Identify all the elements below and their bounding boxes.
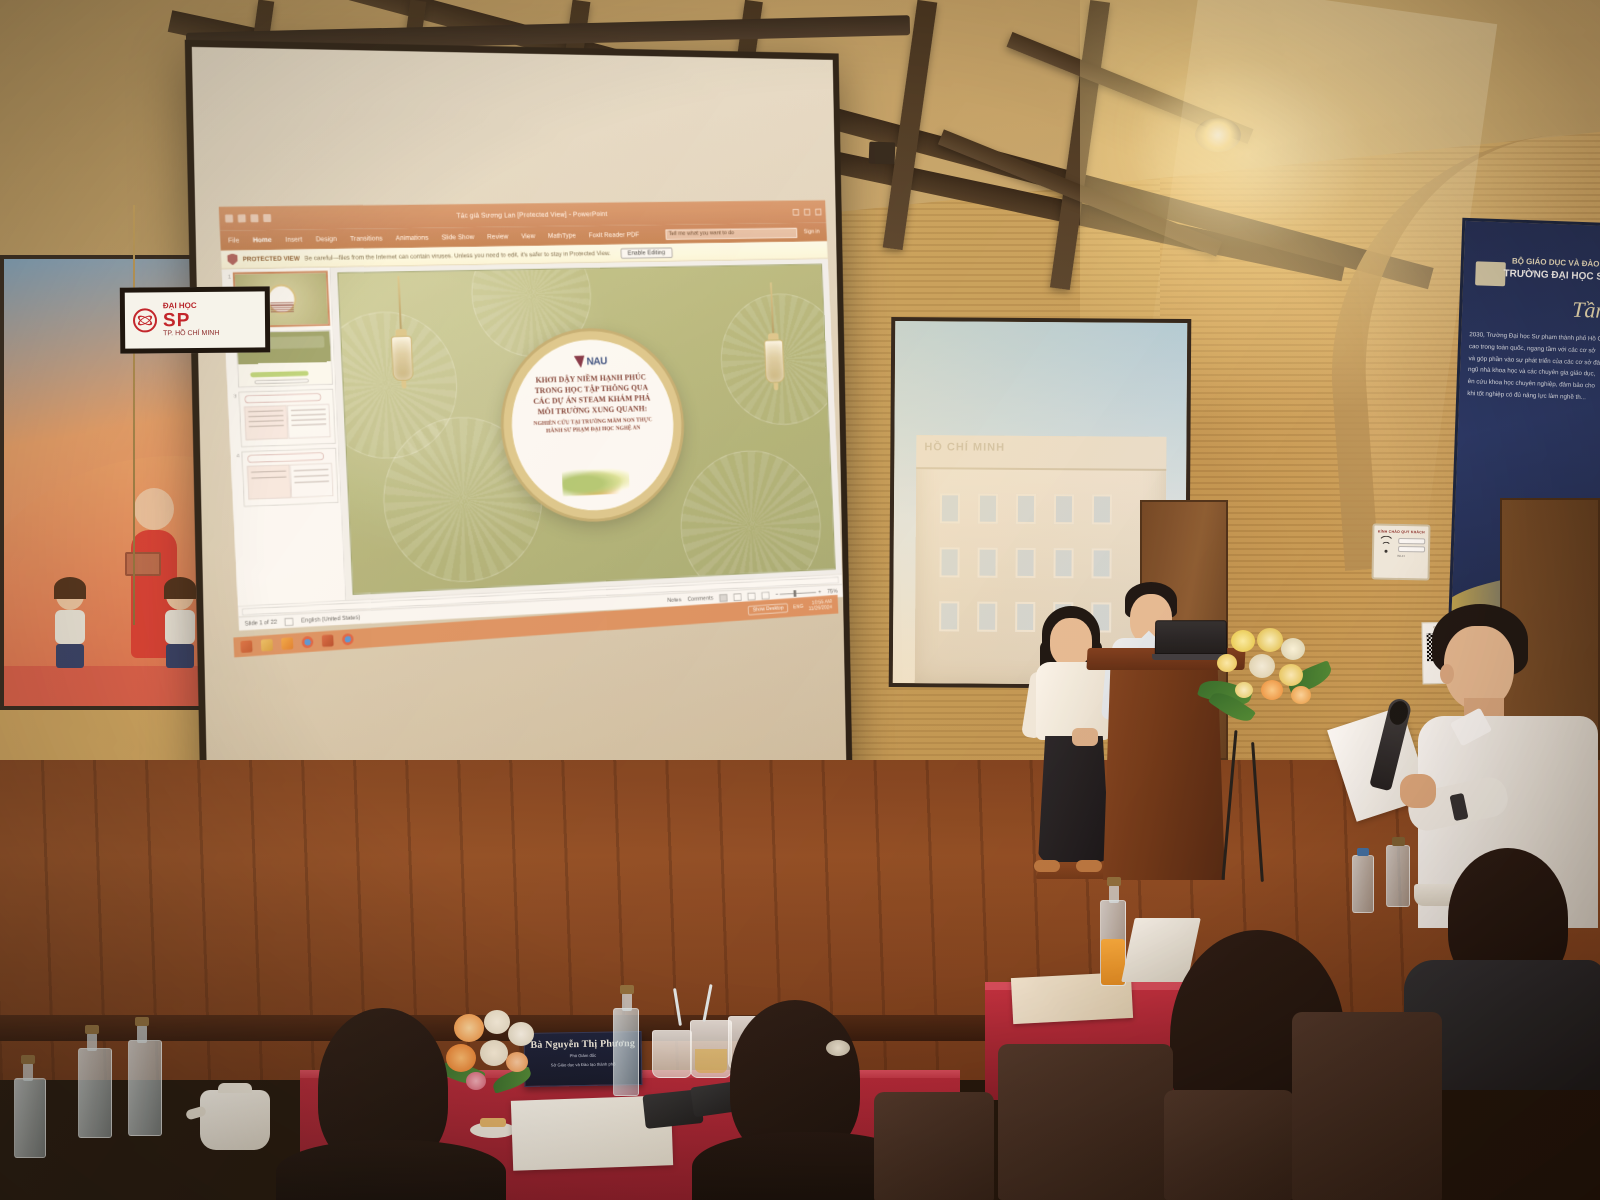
tab-foxit-reader-pdf[interactable]: Foxit Reader PDF: [588, 231, 639, 238]
flower: [508, 1022, 534, 1046]
spell-check-icon[interactable]: [285, 617, 294, 625]
hair: [164, 577, 196, 599]
zoom-track[interactable]: [780, 592, 816, 595]
language-indicator[interactable]: English (United States): [301, 615, 360, 624]
shoe-left: [1034, 860, 1060, 872]
thumbnail-column-right: [290, 463, 334, 498]
window-title: Tác giả Sương Lan [Protected View] - Pow…: [219, 208, 826, 222]
thumbnail-row[interactable]: 3: [229, 389, 336, 448]
bottle-cap: [135, 1017, 149, 1026]
pants: [166, 644, 194, 668]
flower: [454, 1014, 484, 1042]
glass-bottle: [128, 1040, 162, 1136]
language-indicator[interactable]: ENG: [793, 604, 804, 610]
flower-arrangement: [1205, 628, 1325, 736]
pants: [56, 644, 84, 668]
wifi-password-row: [1398, 546, 1425, 552]
flower: [480, 1040, 508, 1066]
enable-editing-button[interactable]: Enable Editing: [620, 247, 672, 258]
ribbon-right-side: Tell me what you want to do Sign in: [665, 227, 820, 240]
nau-logo: NAU: [574, 355, 608, 368]
water-bottle: [1386, 845, 1410, 907]
head: [1050, 618, 1092, 666]
lantern-body: [764, 340, 785, 384]
tab-home[interactable]: Home: [253, 236, 272, 243]
bottle-neck: [1109, 885, 1119, 903]
slide-editing-pane[interactable]: NAU KHƠI DẬY NIỀM HẠNH PHÚC TRONG HỌC TẬ…: [330, 259, 842, 600]
thumbnail-header: [244, 393, 321, 403]
file-explorer-icon[interactable]: [261, 639, 273, 652]
hand: [1400, 774, 1436, 808]
flower: [1281, 638, 1305, 660]
tab-animations[interactable]: Animations: [396, 234, 429, 241]
table-bouquet: [440, 1010, 550, 1110]
bottle-cap: [1107, 877, 1121, 886]
tab-file[interactable]: File: [228, 237, 239, 244]
flower: [1231, 630, 1255, 652]
sign-in-button[interactable]: Sign in: [804, 229, 820, 235]
projection-screen: Tác giả Sương Lan [Protected View] - Pow…: [185, 40, 853, 840]
wifi-info-sign: KÍNH CHÀO QUÝ KHÁCH WI-FI: [1372, 523, 1431, 580]
zoom-out-icon[interactable]: −: [775, 592, 778, 598]
bottle-neck: [137, 1025, 147, 1043]
tab-slide-show[interactable]: Slide Show: [441, 234, 474, 241]
current-slide[interactable]: NAU KHƠI DẬY NIỀM HẠNH PHÚC TRONG HỌC TẬ…: [337, 264, 835, 595]
swing-top-cap: [620, 985, 634, 994]
taskbar-clock[interactable]: 10:55 AM 11/26/2024: [808, 599, 832, 612]
powerpoint-taskbar-icon[interactable]: [322, 634, 334, 647]
book-icon: [125, 552, 161, 576]
start-menu-icon[interactable]: [240, 640, 252, 653]
lantern-tip: [401, 381, 406, 389]
tab-design[interactable]: Design: [316, 236, 337, 243]
powerpoint-window[interactable]: Tác giả Sương Lan [Protected View] - Pow…: [219, 200, 843, 634]
slide-counter: Slide 1 of 22: [245, 619, 278, 627]
glass-bottle: [78, 1048, 112, 1138]
chrome-icon[interactable]: [301, 636, 313, 649]
slide-show-icon[interactable]: [761, 591, 769, 599]
shirt: [55, 610, 85, 644]
mandala-ornament: [677, 448, 824, 595]
thumbnail-row[interactable]: 4: [231, 448, 338, 508]
tab-view[interactable]: View: [521, 233, 535, 240]
zoom-knob[interactable]: [794, 590, 797, 597]
teapot: [200, 1090, 270, 1150]
chair: [1292, 1012, 1442, 1200]
firefox-icon[interactable]: [281, 637, 293, 650]
flower: [1249, 654, 1275, 678]
powerpoint-body: 1 2: [222, 259, 842, 606]
screen-roller-box: [869, 142, 896, 165]
shield-icon: [227, 253, 238, 265]
zoom-level: 75%: [827, 588, 838, 594]
thumbnail-header: [247, 452, 324, 463]
taskbar-tray[interactable]: Show Desktop ENG 10:55 AM 11/26/2024: [748, 599, 832, 616]
comments-button[interactable]: Comments: [687, 595, 713, 602]
ear: [1440, 664, 1454, 684]
thumbnail-caption-bar: [254, 379, 308, 385]
pastry: [480, 1118, 506, 1127]
glass-bottle: [613, 1008, 639, 1096]
tell-me-search-input[interactable]: Tell me what you want to do: [665, 227, 797, 239]
university-crest-sign: ĐẠI HỌC SP TP. HỒ CHÍ MINH: [120, 286, 271, 353]
teapot-spout: [185, 1105, 207, 1120]
reading-view-icon[interactable]: [747, 592, 755, 600]
mural-child-figure: [160, 581, 200, 668]
bottle-cap: [1357, 848, 1369, 856]
bottle-cap: [85, 1025, 99, 1034]
minimize-icon[interactable]: [793, 208, 799, 215]
teapot-lid: [218, 1083, 252, 1093]
close-icon[interactable]: [815, 208, 821, 215]
vegetable-illustration: [562, 465, 630, 496]
conference-hall-scene: ĐẠI HỌC SP TP. HỒ CHÍ MINH HỒ CHÍ MINH: [0, 0, 1600, 1200]
chair: [998, 1044, 1173, 1200]
lantern-chain: [398, 276, 402, 329]
protected-view-message: Be careful—files from the Internet can c…: [304, 250, 610, 262]
zoom-in-icon[interactable]: +: [818, 589, 821, 595]
bottle-cap: [1392, 837, 1405, 846]
screen-pull-cord[interactable]: [133, 205, 135, 625]
tab-transitions[interactable]: Transitions: [350, 235, 383, 242]
lantern-chain: [770, 283, 774, 334]
hair: [54, 577, 86, 599]
crest-line-2: SP: [163, 310, 219, 330]
banner-script-word: Tầm nhìn: [1572, 297, 1600, 326]
iced-drink-cup: [690, 1020, 732, 1078]
flower: [446, 1044, 476, 1072]
water-bottle: [1352, 855, 1374, 913]
tab-mathtype[interactable]: MathType: [548, 232, 576, 239]
slide-sorter-icon[interactable]: [733, 593, 741, 601]
mural-child-figure: [50, 581, 90, 668]
window-controls[interactable]: [793, 208, 822, 215]
slide-title: KHƠI DẬY NIỀM HẠNH PHÚC TRONG HỌC TẬP TH…: [532, 373, 651, 419]
head: [166, 581, 194, 610]
hair-clip: [826, 1040, 850, 1056]
chrome-window-icon[interactable]: [342, 633, 354, 646]
ministry-logo-icon: [1475, 261, 1506, 286]
flower: [466, 1072, 486, 1090]
slide-thumbnail-4[interactable]: [241, 448, 338, 507]
shirt: [165, 610, 195, 644]
thumbnail-text-lines: [270, 301, 294, 314]
spotlight: [1195, 118, 1241, 152]
flower: [1257, 628, 1283, 652]
wifi-sign-body: [1377, 538, 1425, 555]
nau-logo-text: NAU: [586, 355, 607, 367]
thumbnail-number: 1: [223, 272, 231, 280]
crest-line-3: TP. HỒ CHÍ MINH: [163, 330, 219, 338]
nau-mark-icon: [574, 355, 585, 368]
banner-org-line-1: BỘ GIÁO DỤC VÀ ĐÀO TẠO: [1512, 257, 1600, 270]
banner-body: 2030, Trường Đại học Sư phạm thành phố H…: [1467, 329, 1600, 408]
clock-date: 11/26/2024: [809, 605, 833, 612]
bottle-neck: [622, 993, 632, 1011]
wifi-ssid-row: [1398, 538, 1425, 544]
audience-shoulders: [276, 1140, 506, 1200]
slide-subtitle: NGHIÊN CỨU TẠI TRƯỜNG MẦM NON THỰC HÀNH …: [534, 417, 653, 436]
maximize-icon[interactable]: [804, 208, 810, 215]
lantern-body: [391, 336, 414, 382]
thumbnail-column-left: [244, 405, 288, 440]
head: [134, 488, 174, 530]
chair: [1164, 1090, 1294, 1200]
lantern-ornament-left: [388, 276, 414, 389]
thumbnail-progress-bar: [250, 371, 308, 378]
atom-icon: [133, 308, 157, 332]
normal-view-icon[interactable]: [719, 594, 727, 602]
thumbnail-number: 4: [231, 451, 239, 459]
flower: [1291, 686, 1311, 704]
glass-bottle: [14, 1078, 46, 1158]
cup: [652, 1030, 692, 1078]
thumbnail-number: 3: [229, 392, 237, 400]
flower: [1261, 680, 1283, 700]
tab-insert[interactable]: Insert: [285, 236, 302, 243]
flower: [1279, 664, 1303, 686]
wifi-credentials: [1398, 538, 1425, 554]
flower: [1217, 654, 1237, 672]
notes-button[interactable]: Notes: [667, 597, 681, 603]
wifi-sign-title: KÍNH CHÀO QUÝ KHÁCH: [1377, 530, 1425, 535]
bottle-cap: [21, 1055, 35, 1064]
protected-view-badge: PROTECTED VIEW: [243, 255, 300, 263]
flower: [484, 1010, 510, 1034]
lantern-tip: [773, 383, 778, 391]
bottle-neck: [87, 1033, 97, 1051]
flower: [1235, 682, 1253, 698]
show-desktop-button[interactable]: Show Desktop: [748, 603, 788, 615]
bottle-neck: [23, 1063, 33, 1081]
flower: [506, 1052, 528, 1072]
thumbnail-column-right: [287, 404, 331, 439]
chair: [874, 1092, 994, 1200]
drink-contents: [695, 1049, 727, 1073]
thumbnail-column-left: [247, 464, 291, 499]
banner-org-line-2: TRƯỜNG ĐẠI HỌC SƯ PHẠM TP. HỒ CHÍ MINH: [1503, 268, 1600, 287]
tab-review[interactable]: Review: [487, 233, 509, 240]
wifi-icon: [1377, 538, 1395, 554]
head: [56, 581, 84, 610]
slide-thumbnail-3[interactable]: [238, 389, 335, 448]
